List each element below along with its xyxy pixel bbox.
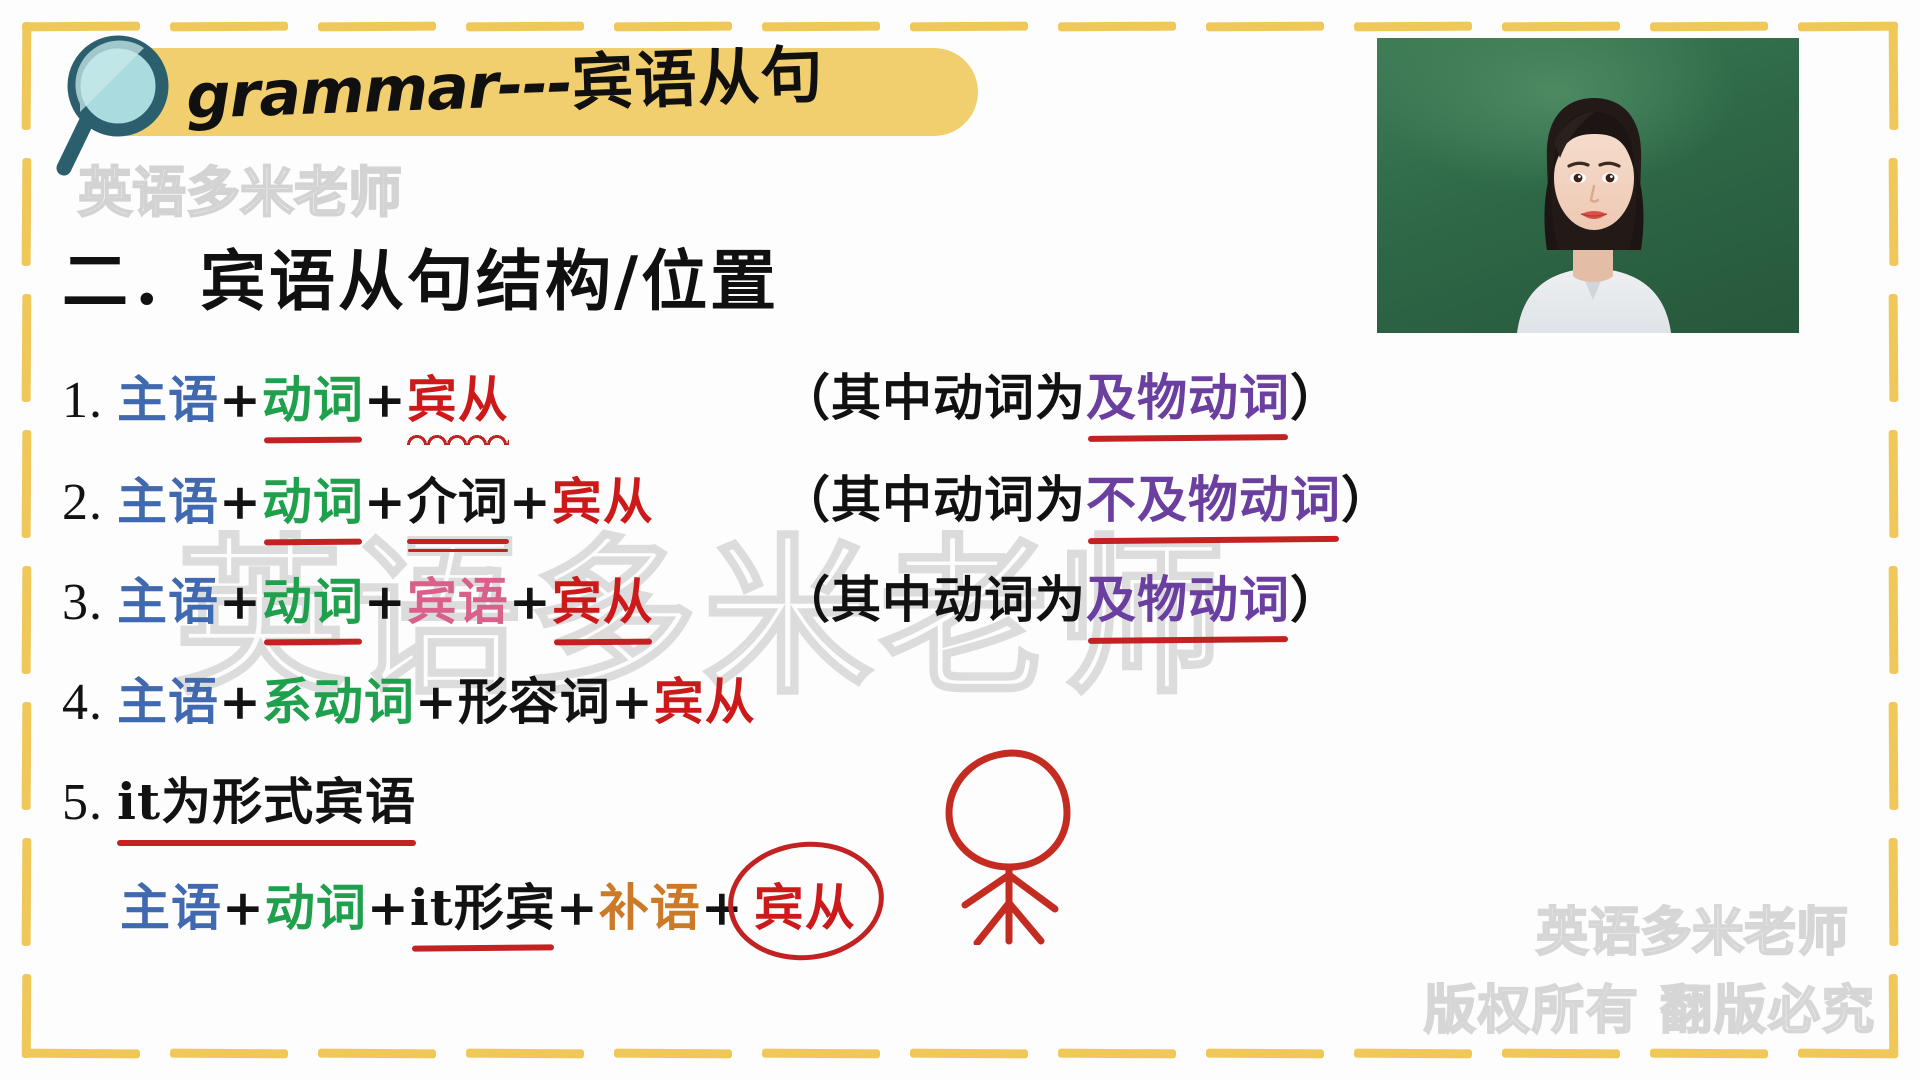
list-item: 1. 主语+动词+宾从 (62, 360, 509, 432)
border-dash (910, 22, 1028, 32)
formula-term: 宾从 (407, 360, 509, 432)
list-item-note: （其中动词为不及物动词） (780, 460, 1392, 532)
border-dash (910, 1049, 1028, 1059)
plus-sign: + (364, 472, 407, 531)
list-item: 3. 主语+动词+宾语+宾从 (62, 562, 654, 634)
plus-sign: + (701, 878, 744, 937)
border-dash (1354, 22, 1472, 32)
border-dash (1889, 702, 1899, 810)
formula-term: 动词 (262, 562, 364, 634)
title-chinese: 宾语从句 (570, 38, 824, 120)
border-dash (22, 430, 32, 538)
border-dash (1650, 1049, 1768, 1059)
border-dash (22, 22, 32, 130)
border-dash (1354, 1049, 1472, 1059)
note-open-paren: （其中动词为 (780, 470, 1086, 529)
border-dash (1058, 22, 1176, 32)
list-number: 4. (62, 674, 117, 731)
border-dash (318, 1049, 436, 1059)
border-dash (1889, 566, 1899, 674)
formula-term: it形宾 (410, 868, 556, 940)
formula-term: 介词 (407, 462, 509, 534)
border-dash (22, 974, 32, 1058)
watermark-bottom-line2: 版权所有 翻版必究 (1424, 968, 1876, 1043)
plus-sign: + (219, 572, 262, 631)
teacher-avatar (1377, 38, 1799, 333)
formula-term: 主语 (117, 462, 219, 534)
formula-term: 动词 (262, 360, 364, 432)
border-dash (1206, 1049, 1324, 1059)
list-item-note: （其中动词为及物动词） (780, 560, 1341, 632)
plus-sign: + (415, 672, 458, 731)
list-item: 2. 主语+动词+介词+宾从 (62, 462, 654, 534)
circled-term: 宾从 (744, 868, 866, 940)
border-dash (1889, 430, 1899, 538)
border-dash (22, 566, 32, 674)
formula-term: 主语 (120, 868, 222, 940)
formula-term: it为形式宾语 (117, 762, 416, 834)
list-number: 3. (62, 574, 117, 631)
plus-sign: + (509, 572, 552, 631)
note-open-paren: （其中动词为 (780, 570, 1086, 629)
formula-term: 宾语 (407, 562, 509, 634)
border-dash (614, 1049, 732, 1059)
formula-term: 系动词 (262, 662, 415, 734)
list-number: 5. (62, 774, 117, 831)
formula-term: 宾从 (754, 868, 856, 940)
plus-sign: + (556, 878, 599, 937)
border-dash (1502, 22, 1620, 32)
plus-sign: + (611, 672, 654, 731)
border-dash (1889, 158, 1899, 266)
formula-term: 宾从 (552, 462, 654, 534)
formula-term: 主语 (117, 360, 219, 432)
border-dash (1650, 22, 1768, 32)
formula-term: 补语 (599, 868, 701, 940)
list-item-note: （其中动词为及物动词） (780, 358, 1341, 430)
border-dash (22, 702, 32, 810)
list-number: 1. (62, 372, 117, 429)
title-english: grammar--- (185, 47, 573, 133)
note-close-paren: ） (1290, 570, 1341, 629)
section-heading: 二．宾语从句结构/位置 (62, 228, 779, 324)
list-number: 2. (62, 474, 117, 531)
formula-term: 主语 (117, 562, 219, 634)
note-close-paren: ） (1341, 470, 1392, 529)
formula-term: 主语 (117, 662, 219, 734)
list-item: 5. it为形式宾语 (62, 762, 416, 834)
formula-term: 动词 (262, 462, 364, 534)
border-dash (1889, 838, 1899, 946)
sub-formula-line: 主语+动词+it形宾+补语+宾从 (120, 868, 866, 940)
stick-figure-doodle (915, 745, 1105, 950)
teacher-video-overlay[interactable] (1377, 38, 1799, 333)
border-dash (1798, 1049, 1898, 1059)
formula-term: 宾从 (552, 562, 654, 634)
border-dash (318, 22, 436, 32)
border-dash (170, 22, 288, 32)
formula-term: 宾从 (654, 662, 756, 734)
plus-sign: + (219, 370, 262, 429)
border-dash (22, 158, 32, 266)
formula-term: 形容词 (458, 662, 611, 734)
border-dash (762, 1049, 880, 1059)
plus-sign: + (219, 672, 262, 731)
border-dash (1889, 294, 1899, 402)
magnifier-icon (48, 28, 178, 178)
border-dash (170, 1049, 288, 1059)
note-keyword: 及物动词 (1086, 358, 1290, 430)
border-dash (1798, 22, 1898, 32)
note-keyword: 及物动词 (1086, 560, 1290, 632)
watermark-bottom-line1: 英语多米老师 (1536, 890, 1848, 965)
formula-term: 动词 (265, 868, 367, 940)
border-dash (1889, 974, 1899, 1058)
plus-sign: + (219, 472, 262, 531)
note-close-paren: ） (1290, 368, 1341, 427)
slide-canvas: grammar---宾语从句 英语多米老师 英语多米老师 英语多米老师 版权所有… (0, 0, 1920, 1080)
border-dash (1502, 1049, 1620, 1059)
border-dash (1889, 22, 1899, 130)
note-open-paren: （其中动词为 (780, 368, 1086, 427)
plus-sign: + (364, 572, 407, 631)
border-dash (22, 838, 32, 946)
border-dash (22, 294, 32, 402)
border-dash (22, 1049, 140, 1059)
plus-sign: + (364, 370, 407, 429)
list-item: 4. 主语+系动词+形容词+宾从 (62, 662, 756, 734)
note-keyword: 不及物动词 (1086, 460, 1341, 532)
border-dash (466, 22, 584, 32)
border-dash (466, 1049, 584, 1059)
border-dash (1206, 22, 1324, 32)
plus-sign: + (509, 472, 552, 531)
border-dash (1058, 1049, 1176, 1059)
plus-sign: + (222, 878, 265, 937)
plus-sign: + (367, 878, 410, 937)
